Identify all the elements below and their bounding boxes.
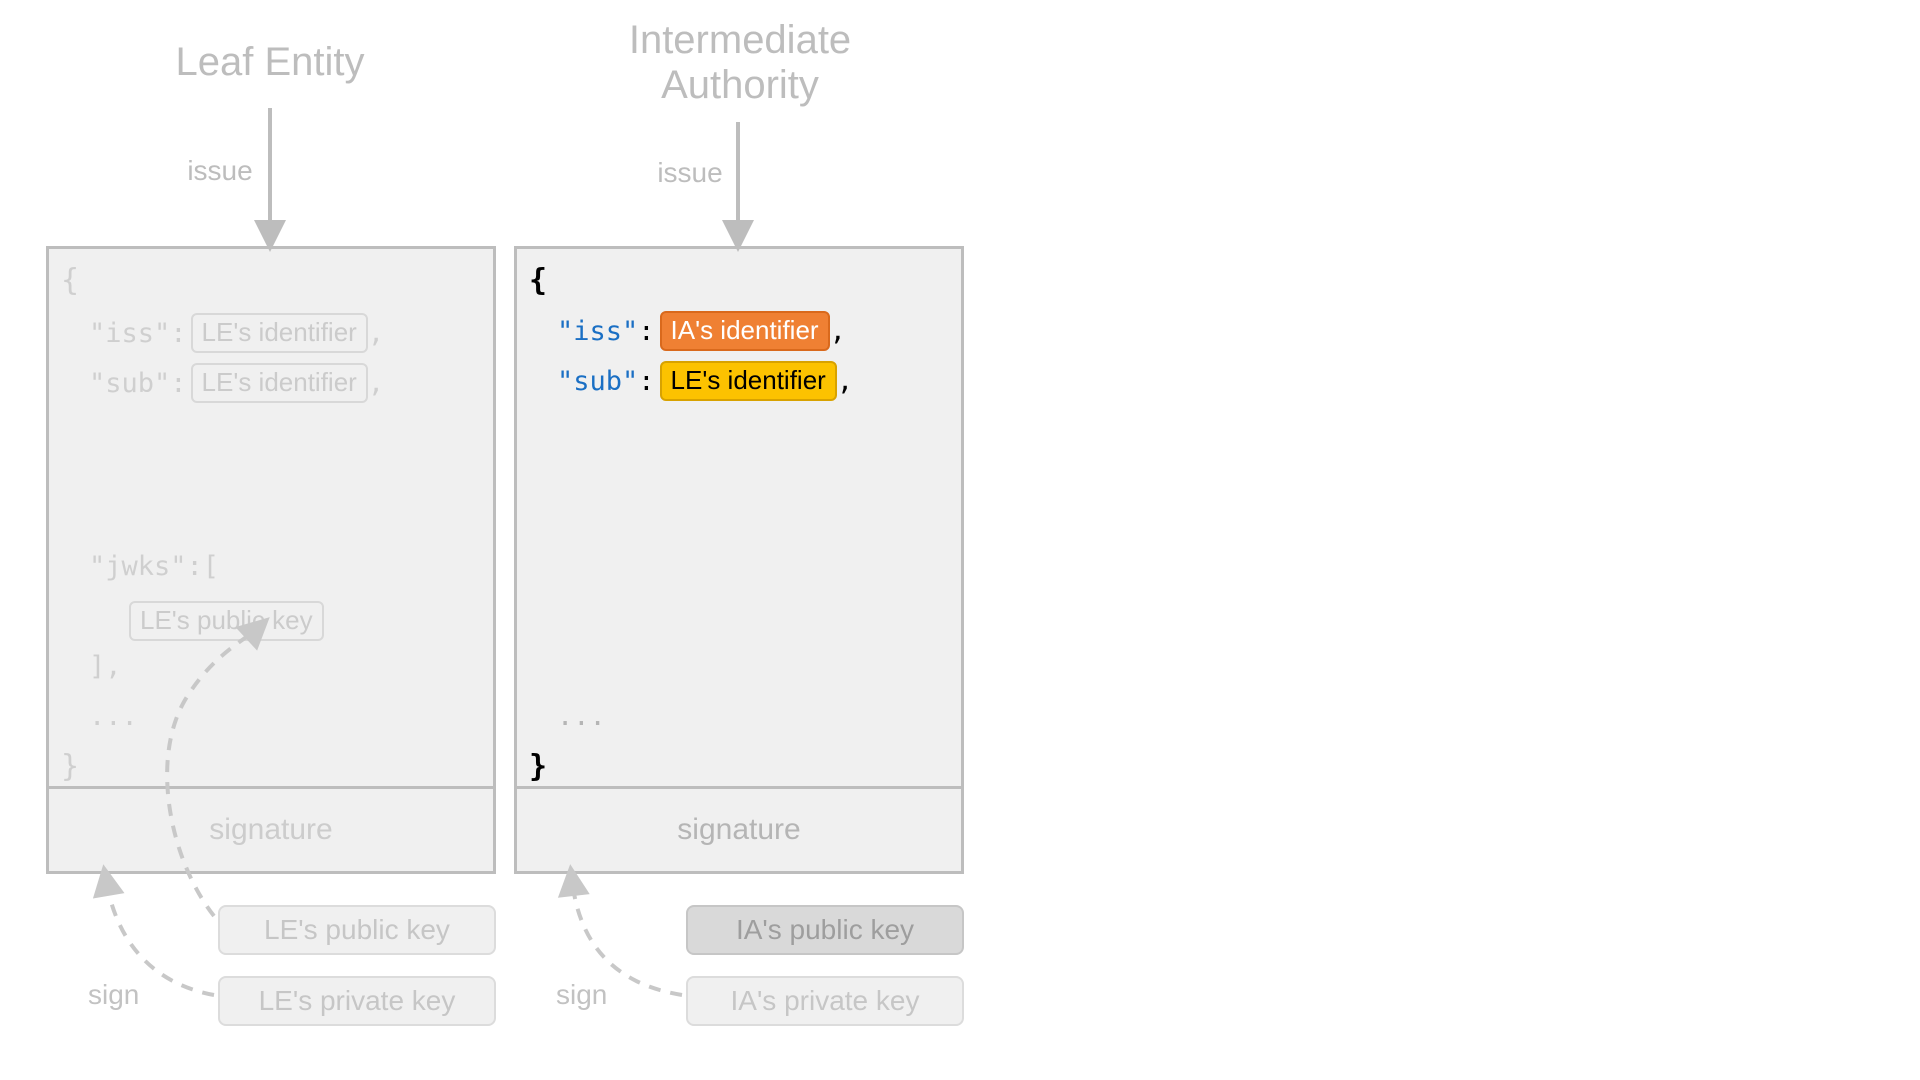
column-title-leaf-entity: Leaf Entity [50,40,490,85]
certificate-body-leaf-entity: { "iss" : LE's identifier , "sub" : LE's… [49,249,493,789]
json-ellipsis-le: ... [89,701,138,732]
json-value-chip-iss-le: LE's identifier [191,313,368,353]
key-chip-le-public-key: LE's public key [218,905,496,955]
json-row-sub-le: "sub" : LE's identifier , [89,363,384,403]
sign-label-leaf-entity: sign [88,979,139,1011]
json-value-chip-sub-ia: LE's identifier [660,361,837,401]
json-open-brace-le: { [61,263,79,298]
json-key-sub-le: "sub" [89,368,170,399]
key-chip-ia-private-key: IA's private key [686,976,964,1026]
json-comma-sub-ia: , [837,366,853,397]
json-colon-iss-ia: : [638,316,654,347]
json-colon-sub-ia: : [638,366,654,397]
json-value-chip-jwks-le: LE's public key [129,601,324,641]
json-value-chip-iss-ia: IA's identifier [660,311,830,351]
json-comma-sub-le: , [368,368,384,399]
connector-le-private-key-to-signature [106,880,214,995]
json-comma-iss-le: , [368,318,384,349]
json-close-brace-ia: } [529,749,547,784]
json-row-iss-ia: "iss" : IA's identifier , [557,311,846,351]
diagram-canvas: Leaf Entity Intermediate Authority issue… [0,0,1920,1080]
certificate-card-leaf-entity: { "iss" : LE's identifier , "sub" : LE's… [46,246,496,874]
sign-label-intermediate-authority: sign [556,979,607,1011]
key-chip-ia-public-key: IA's public key [686,905,964,955]
json-value-chip-sub-le: LE's identifier [191,363,368,403]
json-key-sub-ia: "sub" [557,366,638,397]
issue-label-intermediate-authority: issue [630,157,750,189]
json-key-iss-le: "iss" [89,318,170,349]
json-key-iss-ia: "iss" [557,316,638,347]
signature-section-intermediate-authority: signature [517,786,961,871]
json-row-sub-ia: "sub" : LE's identifier , [557,361,853,401]
json-colon-sub-le: : [170,368,186,399]
connector-ia-private-key-to-signature [572,880,682,995]
key-chip-le-private-key: LE's private key [218,976,496,1026]
certificate-card-intermediate-authority: { "iss" : IA's identifier , "sub" : LE's… [514,246,964,874]
issue-label-leaf-entity: issue [160,155,280,187]
json-close-brace-le: } [61,749,79,784]
json-key-jwks-le: "jwks":[ [89,551,219,582]
column-title-intermediate-authority: Intermediate Authority [520,18,960,108]
json-jwks-close-le: ], [89,651,122,682]
json-colon-iss-le: : [170,318,186,349]
json-row-iss-le: "iss" : LE's identifier , [89,313,384,353]
json-ellipsis-ia: ... [557,701,606,732]
signature-section-leaf-entity: signature [49,786,493,871]
json-open-brace-ia: { [529,263,547,298]
json-comma-iss-ia: , [830,316,846,347]
certificate-body-intermediate-authority: { "iss" : IA's identifier , "sub" : LE's… [517,249,961,789]
